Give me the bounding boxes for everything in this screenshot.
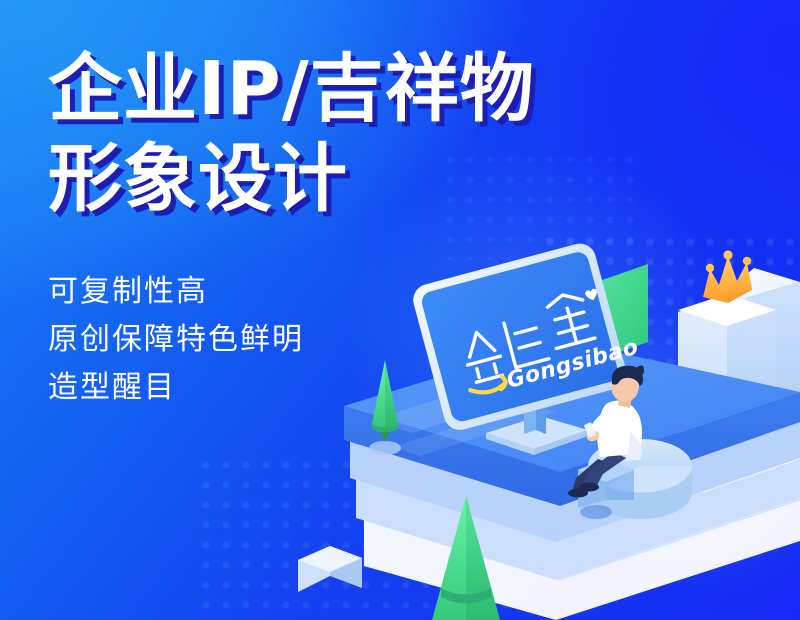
feature-item-2: 原创保障特色鲜明 — [48, 316, 608, 364]
feature-list: 可复制性高 原创保障特色鲜明 造型醒目 — [48, 268, 608, 412]
feature-item-3: 造型醒目 — [48, 364, 608, 412]
tree-large — [432, 496, 500, 620]
dot-pattern-lower — [196, 455, 526, 620]
short-bar — [700, 268, 800, 470]
headline-line-1: 企业IP/吉祥物 — [48, 46, 608, 132]
promo-banner: Gongsibao — [0, 0, 800, 620]
pie-chart-seat — [578, 439, 692, 519]
cube-accent — [298, 546, 362, 592]
tall-bar — [678, 294, 776, 500]
bar-chart-group — [678, 250, 800, 500]
text-block: 企业IP/吉祥物 形象设计 可复制性高 原创保障特色鲜明 造型醒目 — [48, 46, 608, 412]
crown-icon — [703, 250, 752, 303]
feature-item-1: 可复制性高 — [48, 268, 608, 316]
headline-line-2: 形象设计 — [48, 136, 608, 222]
